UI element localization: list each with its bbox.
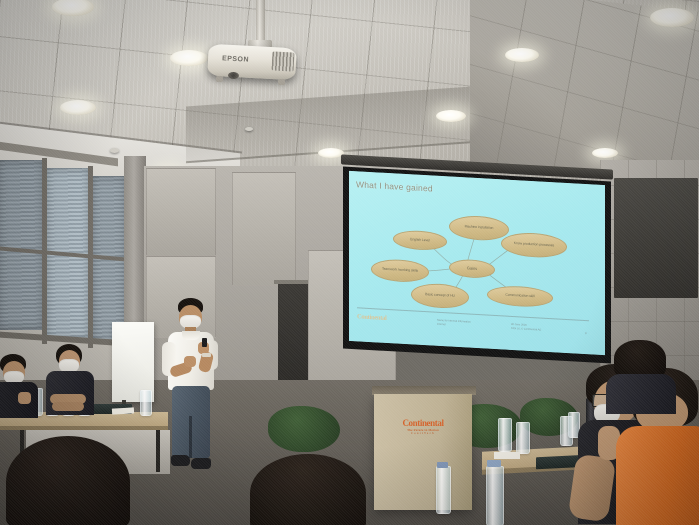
downlight-2 [170,50,208,66]
audience-foreground-right-front [630,398,699,525]
door-dark[interactable] [278,284,308,388]
projector-foot-right [278,79,285,85]
smoke-detector-2 [245,127,253,131]
audience-foreground-left-hair [6,436,130,525]
presenter-shoe-right [191,458,211,469]
slide-page-number: 9 [585,331,587,335]
bottle-foreground-right[interactable] [486,466,504,525]
presenter-right-hand [184,356,196,367]
paper-right-table[interactable] [494,452,520,459]
downlight-3 [60,100,96,115]
downlight-6 [436,110,466,122]
bottle-right-2[interactable] [516,422,530,454]
slide-classification-line2: internal [437,323,446,327]
presenter-shirt-collar [182,331,200,340]
audience-foreground-center-hair [250,454,366,525]
audience-left-near-hand [18,392,31,404]
bottle-right-1[interactable] [498,418,512,452]
audience-seated-left-far [42,344,108,420]
podium-logo-division: ContiTech [380,432,466,435]
audience-seated-left-near [0,354,48,416]
audience-foreground-left [6,436,136,525]
audience-right-front-shirt [616,426,699,525]
audience-foreground-right-back [604,340,674,410]
audience-foreground-center [250,454,370,525]
podium-continental-logo: Continental The Future in Motion ContiTe… [380,418,466,435]
door-frame [274,280,312,284]
downlight-9 [592,148,618,158]
window-blinds-left-upper [0,160,44,330]
slide-canvas: What I have gained Machine installation … [349,171,605,355]
paper-left-table[interactable] [112,407,134,414]
downlight-8 [650,8,694,27]
conference-room-photo: EPSON What I have gained [0,0,699,525]
presenter-wristwatch [202,353,211,357]
presenter-jeans-gap [189,416,192,458]
projector-vent [272,51,295,71]
podium-logo-wordmark: Continental [380,418,466,428]
wall-panel-upper [146,168,216,256]
bottle-left-5[interactable] [140,390,152,416]
presenter [158,298,230,478]
presentation-clicker[interactable] [202,338,207,347]
podium [374,394,472,510]
projector-foot-left [216,76,223,82]
presenter-shoe-left [171,455,190,466]
wall-panel-right-upper [232,172,296,286]
bottle-cap-foreground-right [487,460,501,467]
downlight-7 [505,48,539,62]
projector-brand-label: EPSON [222,55,249,63]
audience-left-far-arm-crossed-2 [52,402,84,411]
plant-left-of-podium [268,406,340,452]
bottle-on-podium[interactable] [436,466,451,514]
smoke-detector-1 [110,148,119,153]
projector-mount-pole [256,0,265,44]
audience-right-back-shirt [606,374,676,414]
wall-panel-far-right [614,178,698,298]
projection-screen: What I have gained Machine installation … [349,171,605,355]
bottle-cap-podium [437,462,448,468]
